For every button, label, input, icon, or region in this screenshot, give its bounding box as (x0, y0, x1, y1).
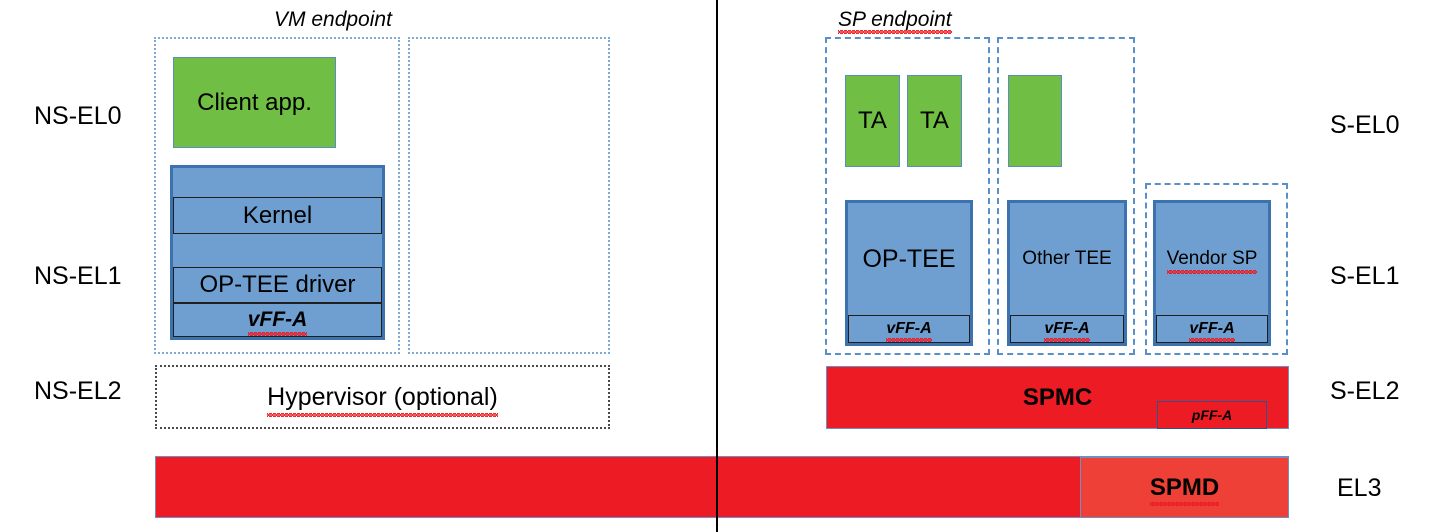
op-tee-driver-row: OP-TEE driver (173, 267, 382, 303)
ta-box-2-label: TA (920, 107, 949, 135)
vm-endpoint-caption-text: VM endpoint (274, 8, 392, 31)
vendor-sp-ffa-row: vFF-A (1156, 315, 1268, 343)
spmd-label: SPMD (1150, 474, 1219, 502)
other-tee-sp-box: Other TEE vFF-A (1007, 200, 1127, 346)
kernel-label: Kernel (243, 202, 312, 230)
op-tee-sp-name-row: OP-TEE (848, 203, 970, 315)
kernel-row: Kernel (173, 197, 382, 234)
sp-endpoint-caption-text: SP endpoint (838, 9, 952, 30)
label-s-el1: S-EL1 (1330, 264, 1399, 289)
diagram-canvas: NS-EL0 NS-EL1 NS-EL2 S-EL0 S-EL1 S-EL2 E… (0, 0, 1442, 532)
other-tee-sp-name: Other TEE (1022, 248, 1111, 270)
kernel-stack-row-mid-blank (173, 234, 382, 267)
op-tee-sp-ffa-row: vFF-A (848, 315, 970, 343)
label-ns-el0: NS-EL0 (34, 104, 122, 129)
label-el3: EL3 (1337, 476, 1381, 501)
spmc-label: SPMC (1023, 384, 1092, 412)
op-tee-sp-name: OP-TEE (862, 245, 955, 274)
secure-nonsecure-divider-overlay (716, 456, 718, 532)
hypervisor-label: Hypervisor (optional) (267, 383, 498, 412)
ta-box-1-label: TA (858, 107, 887, 135)
vendor-sp-name-row: Vendor SP (1156, 203, 1268, 315)
kernel-stack-row-top-blank (173, 168, 382, 197)
vm-endpoint-box-2 (408, 37, 610, 354)
other-tee-sp-ffa-row: vFF-A (1010, 315, 1124, 343)
vendor-sp-name: Vendor SP (1167, 248, 1258, 270)
client-app-box: Client app. (173, 57, 336, 148)
other-tee-app-box (1008, 75, 1062, 167)
op-tee-sp-ffa-label: vFF-A (886, 320, 931, 338)
client-app-label: Client app. (197, 89, 312, 117)
vendor-sp-ffa-label: vFF-A (1189, 320, 1234, 338)
kernel-stack: Kernel OP-TEE driver vFF-A (170, 165, 385, 340)
label-ns-el1: NS-EL1 (34, 264, 122, 289)
vm-vffa-label: vFF-A (248, 308, 308, 332)
spmd-box: SPMD (1080, 457, 1289, 518)
vm-vffa-row: vFF-A (173, 303, 382, 337)
hypervisor-box: Hypervisor (optional) (155, 365, 610, 429)
secure-nonsecure-divider (716, 0, 718, 532)
other-tee-sp-ffa-label: vFF-A (1044, 320, 1089, 338)
spmc-pffa-box: pFF-A (1157, 401, 1267, 429)
op-tee-sp-box: OP-TEE vFF-A (845, 200, 973, 346)
ta-box-2: TA (907, 75, 962, 167)
vm-endpoint-caption: VM endpoint (274, 9, 392, 30)
label-s-el2: S-EL2 (1330, 379, 1399, 404)
op-tee-driver-label: OP-TEE driver (199, 271, 355, 299)
vendor-sp-box: Vendor SP vFF-A (1153, 200, 1271, 346)
label-ns-el2: NS-EL2 (34, 379, 122, 404)
spmc-pffa-label: pFF-A (1192, 407, 1232, 423)
sp-endpoint-caption: SP endpoint (838, 9, 952, 30)
other-tee-sp-name-row: Other TEE (1010, 203, 1124, 315)
ta-box-1: TA (845, 75, 900, 167)
label-s-el0: S-EL0 (1330, 113, 1399, 138)
